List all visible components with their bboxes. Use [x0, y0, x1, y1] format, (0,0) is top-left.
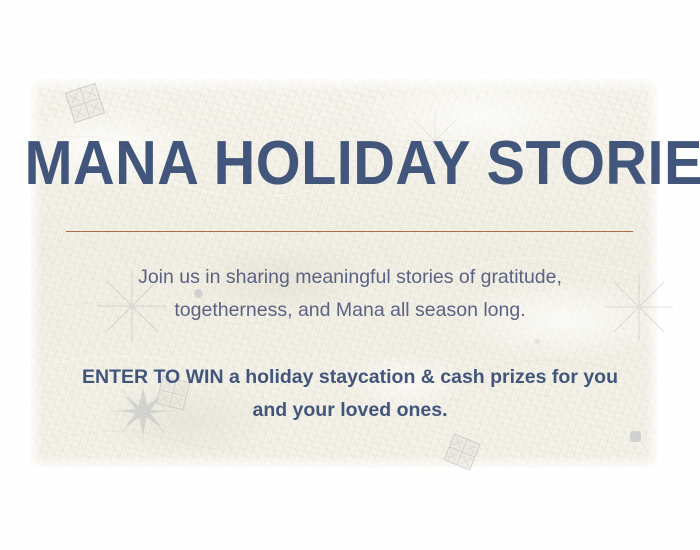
promo-cta-copy: ENTER TO WIN a holiday staycation & cash… — [62, 361, 638, 427]
page-title: MANA HOLIDAY STORIES — [25, 133, 676, 195]
divider — [66, 231, 633, 232]
promo-banner: MANA HOLIDAY STORIES Join us in sharing … — [0, 0, 700, 550]
promo-content: MANA HOLIDAY STORIES Join us in sharing … — [0, 0, 700, 550]
promo-subcopy: Join us in sharing meaningful stories of… — [92, 261, 608, 327]
